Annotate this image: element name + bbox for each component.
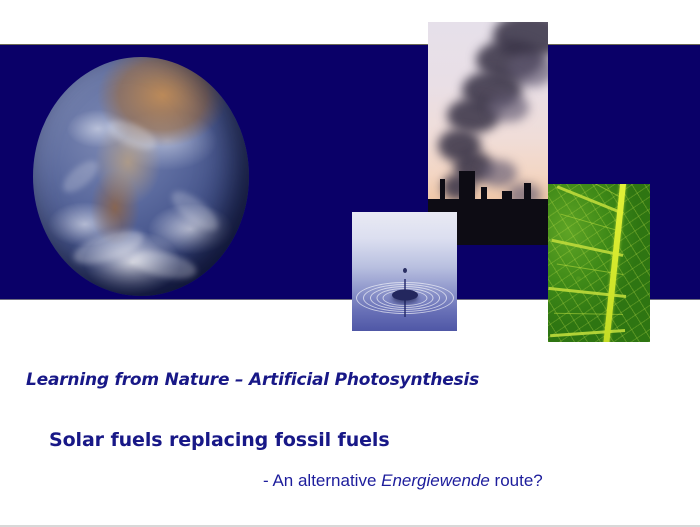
- slide-headline: Solar fuels replacing fossil fuels: [49, 429, 390, 451]
- slide-title: Learning from Nature – Artificial Photos…: [26, 370, 479, 390]
- subtitle-suffix: route?: [490, 471, 543, 490]
- subtitle-prefix: - An alternative: [263, 471, 381, 490]
- chimney-stack: [502, 191, 512, 209]
- slide-text-block: Learning from Nature – Artificial Photos…: [0, 300, 700, 525]
- subtitle-emphasis: Energiewende: [381, 471, 490, 490]
- falling-droplet: [403, 268, 407, 273]
- chimney-stack: [459, 171, 475, 209]
- presentation-slide: Learning from Nature – Artificial Photos…: [0, 0, 700, 527]
- smoke-plume: [488, 93, 529, 122]
- chimney-stack: [481, 187, 487, 209]
- smoke-plume: [481, 160, 517, 187]
- chimney-stack: [440, 179, 445, 209]
- earth-globe-photo: [33, 57, 249, 296]
- chimney-stack: [524, 183, 531, 209]
- slide-subtitle: - An alternative Energiewende route?: [263, 471, 543, 491]
